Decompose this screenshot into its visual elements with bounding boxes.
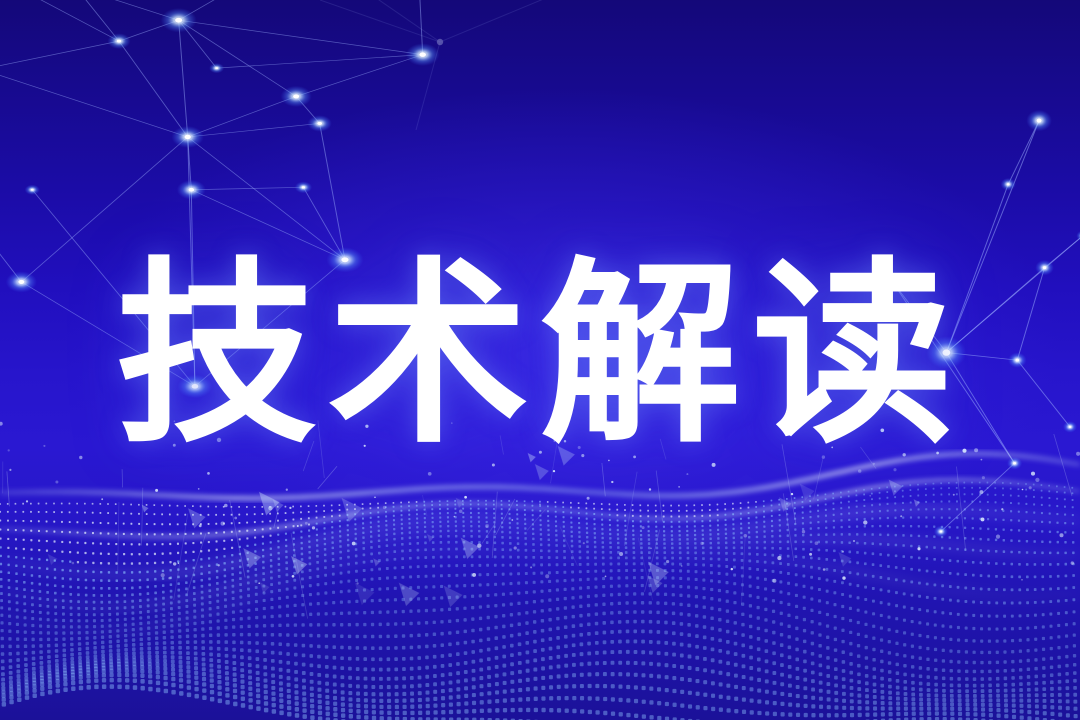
- particle-wave-field: [0, 420, 1080, 720]
- banner-root: 技术解读: [0, 0, 1080, 720]
- network-mesh-top-center-icon: [320, 0, 650, 130]
